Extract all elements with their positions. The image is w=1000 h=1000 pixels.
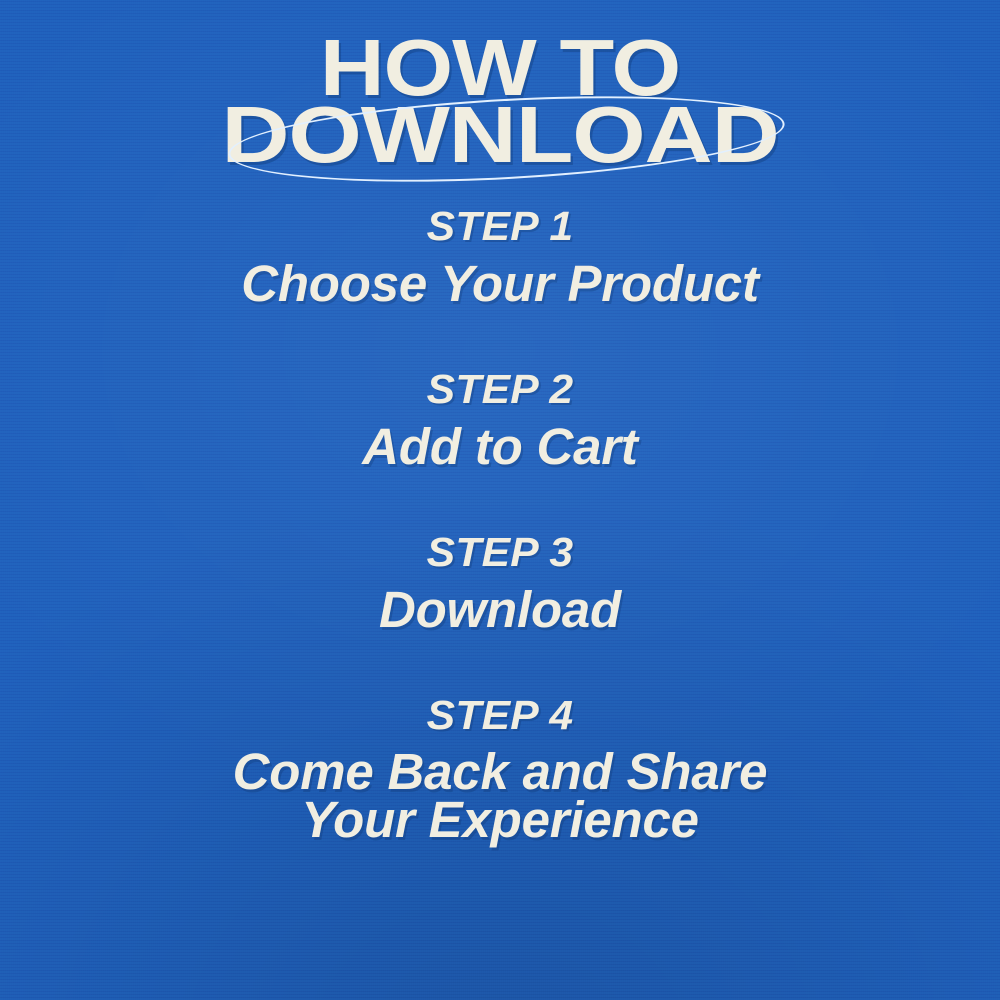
step-description-3: Download [0,585,1000,635]
poster-title: HOW TO DOWNLOAD [0,34,1000,168]
step-description-2: Add to Cart [0,422,1000,472]
steps-list: STEP 1 Choose Your Product STEP 2 Add to… [0,206,1000,904]
step-block-1: STEP 1 Choose Your Product [0,206,1000,309]
step-label-4: STEP 4 [0,695,1000,736]
how-to-download-poster: HOW TO DOWNLOAD STEP 1 Choose Your Produ… [0,0,1000,1000]
step-description-4-line-1: Come Back and Share [90,748,910,796]
step-description-4: Come Back and Share Your Experience [0,748,1000,844]
step-description-4-line-2: Your Experience [90,796,910,844]
title-line-download: DOWNLOAD [0,101,1000,168]
step-description-1: Choose Your Product [0,259,1000,309]
step-label-2: STEP 2 [0,369,1000,410]
step-block-2: STEP 2 Add to Cart [0,369,1000,472]
step-block-4: STEP 4 Come Back and Share Your Experien… [0,695,1000,844]
step-label-3: STEP 3 [0,532,1000,573]
step-label-1: STEP 1 [0,206,1000,247]
step-block-3: STEP 3 Download [0,532,1000,635]
